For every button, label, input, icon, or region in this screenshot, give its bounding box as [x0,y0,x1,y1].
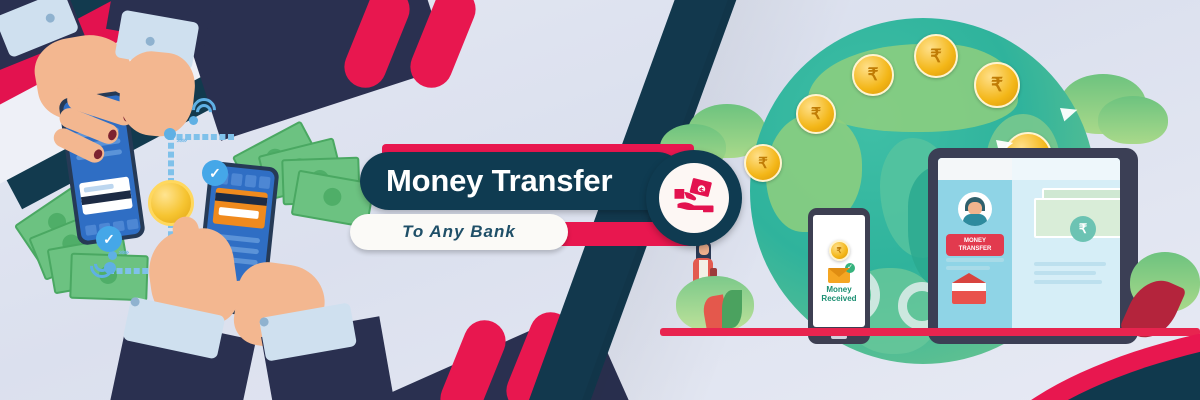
flow-chevrons-top: ›››››› [176,136,186,146]
fingernail [92,148,104,160]
rupee-symbol: ₹ [811,104,821,124]
headline-pill: Money Transfer [360,152,686,210]
svg-text:$: $ [699,185,705,195]
avatar-body [963,214,987,226]
badge-ring: $ [646,150,742,246]
page-subtitle: To Any Bank [402,222,516,242]
rupee-coin-arc-2: ₹ [796,94,836,134]
subhead-pill: To Any Bank [350,214,568,250]
flow-chevrons-bottom: ›››››› [118,248,128,258]
title-lockup: Money Transfer To Any Bank $ [348,140,758,270]
tree-icon-right-2 [1098,96,1168,144]
rupee-coin-arc-4: ₹ [914,34,958,78]
green-plant-icon [722,290,742,328]
content-topbar [1012,158,1120,180]
content-text-lines [1034,262,1106,289]
page-title: Money Transfer [360,163,612,199]
left-illustration-scene: ›››››› ›››››› ✓ ✓ [0,0,360,400]
rupee-banknotes: ₹ [1034,188,1120,236]
rupee-coin-arc-3: ₹ [852,54,894,96]
open-mail-icon [952,282,986,304]
phone-rupee-coin: ₹ [829,240,850,261]
fingernail [107,128,119,141]
money-transfer-badge[interactable]: MONEY TRANSFER [946,234,1004,256]
user-avatar [958,192,992,226]
rupee-coin-arc-5: ₹ [974,62,1020,108]
tablet-content: ₹ [1012,158,1120,334]
check-circle-icon-receiver: ✓ [202,160,228,186]
banknote-front: ₹ [1034,198,1120,238]
money-received-phone[interactable]: ₹ ✓ Money Received [808,208,870,344]
orange-bank-card [213,188,268,229]
rupee-symbol: ₹ [868,65,879,85]
rupee-symbol: ₹ [991,74,1003,97]
rupee-symbol: ₹ [758,154,768,172]
tablet-sidebar: MONEY TRANSFER [938,158,1012,334]
money-received-line1: Money [826,285,851,294]
rupee-symbol: ₹ [1079,221,1087,236]
hand-giving-money-icon: $ [670,174,718,222]
tablet-screen: MONEY TRANSFER ₹ [938,158,1120,334]
phone-screen: ₹ ✓ Money Received [813,215,865,327]
tablet-topbar [938,158,1012,180]
flow-node-top [164,128,176,140]
mail-flap [952,291,986,304]
money-transfer-banner: ₹ ₹ ₹ ₹ ₹ ₹ ₹ [0,0,1200,400]
sidebar-line-2 [946,266,990,270]
rupee-symbol: ₹ [930,46,941,67]
check-circle-icon-sender: ✓ [96,226,122,252]
white-bank-card [79,176,133,215]
sidebar-line-1 [946,258,1004,262]
ground-line [660,328,1200,336]
banknote-rupee-seal: ₹ [1070,216,1096,242]
badge-line-1: MONEY [946,237,1004,245]
envelope-icon: ✓ [828,268,850,283]
money-transfer-tablet[interactable]: MONEY TRANSFER ₹ [928,148,1138,344]
check-badge-icon: ✓ [845,263,855,273]
rupee-symbol: ₹ [836,246,841,255]
money-received-line2: Received [821,294,856,303]
badge-inner-circle: $ [659,163,729,233]
badge-line-2: TRANSFER [946,245,1004,253]
